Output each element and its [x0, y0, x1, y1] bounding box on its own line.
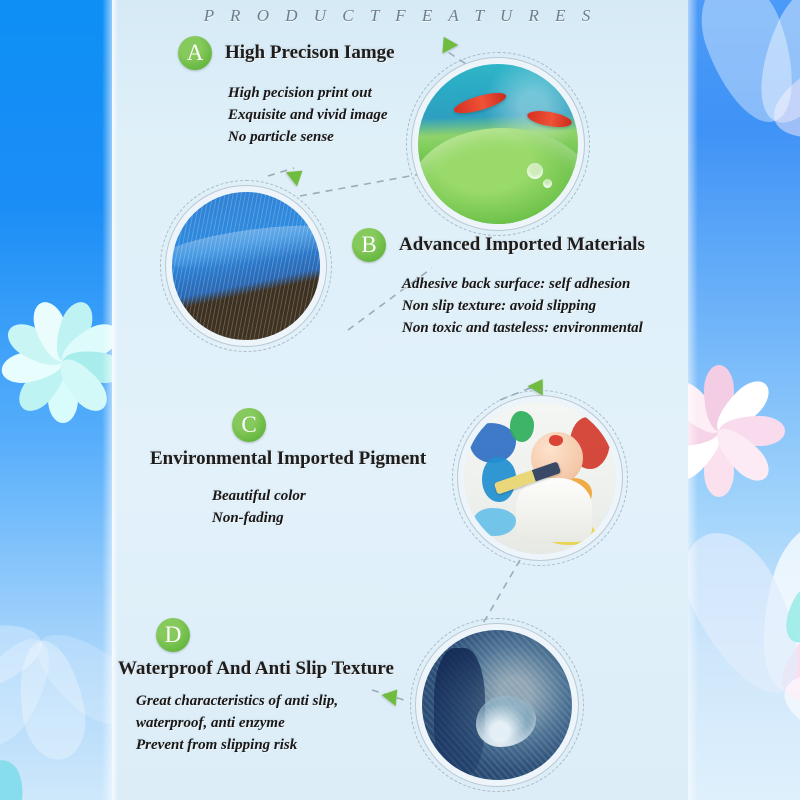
feature-badge-a: A	[178, 36, 212, 70]
feature-line: Prevent from slipping risk	[136, 735, 448, 757]
feature-lines-b: Adhesive back surface: self adhesion Non…	[402, 274, 692, 339]
feature-lines-d: Great characteristics of anti slip, wate…	[136, 691, 448, 756]
feature-lines-c: Beautiful color Non-fading	[212, 486, 470, 530]
photo-b-blue-fabric	[172, 192, 320, 340]
feature-line: Beautiful color	[212, 486, 470, 508]
feature-badge-b: B	[352, 228, 386, 262]
feature-line: Non toxic and tasteless: environmental	[402, 318, 692, 340]
feature-line: Non-fading	[212, 508, 470, 530]
feature-badge-c: C	[232, 408, 266, 442]
feature-line: Great characteristics of anti slip,	[136, 691, 448, 713]
feature-line: No particle sense	[228, 127, 428, 149]
feature-badge-d: D	[156, 618, 190, 652]
feature-lines-a: High pecision print out Exquisite and vi…	[228, 83, 428, 148]
feature-block-c: C Environmental Imported Pigment Beautif…	[150, 408, 470, 530]
feature-line: High pecision print out	[228, 83, 428, 105]
feature-heading-d: Waterproof And Anti Slip Texture	[118, 658, 394, 680]
feature-line: waterproof, anti enzyme	[136, 713, 448, 735]
feature-heading-b: Advanced Imported Materials	[399, 234, 645, 256]
product-features-infographic: P R O D U C T F E A T U R E S	[0, 0, 800, 800]
feature-heading-c: Environmental Imported Pigment	[150, 448, 426, 470]
photo-a-koi-pond	[418, 64, 578, 224]
feature-heading-a: High Precison Iamge	[225, 42, 395, 64]
blue-fabric-material-photo	[172, 192, 320, 340]
feature-block-a: A High Precison Iamge High pecision prin…	[178, 36, 428, 148]
feature-line: Adhesive back surface: self adhesion	[402, 274, 692, 296]
feature-line: Exquisite and vivid image	[228, 105, 428, 127]
photo-c-baby-painting	[464, 402, 616, 554]
feature-block-d: D Waterproof And Anti Slip Texture Great…	[118, 618, 448, 756]
baby-painting-photo	[464, 402, 616, 554]
feature-block-b: B Advanced Imported Materials Adhesive b…	[352, 228, 692, 339]
feature-line: Non slip texture: avoid slipping	[402, 296, 692, 318]
koi-pond-print-photo	[418, 64, 578, 224]
